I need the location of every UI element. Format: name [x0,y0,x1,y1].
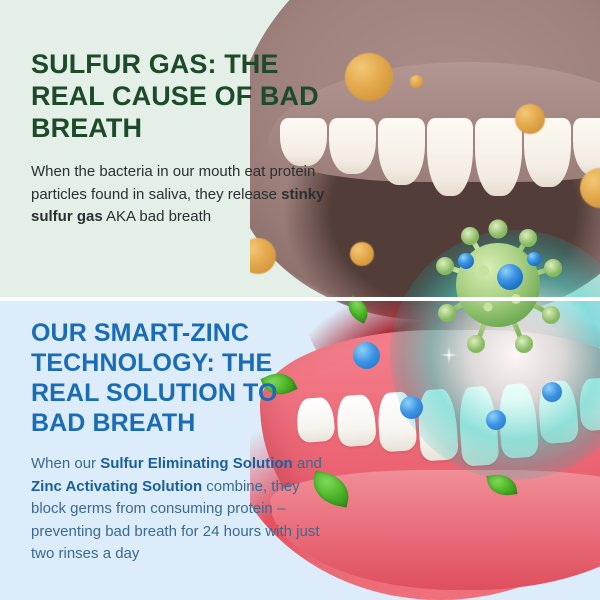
bottom-body-text: When our Sulfur Eliminating Solution and… [31,453,331,566]
bottom-section-text: OUR SMART-ZINC TECHNOLOGY: THE REAL SOLU… [31,318,331,566]
bottom-body-part-2: and [293,455,322,472]
bottom-body-bold-2: Zinc Activating Solution [31,478,202,495]
infographic-root: SULFUR GAS: THE REAL CAUSE OF BAD BREATH… [0,0,600,600]
section-divider [0,297,600,301]
bottom-body-bold-1: Sulfur Eliminating Solution [100,455,293,472]
germ-icon [428,215,568,355]
zinc-particle [400,396,423,419]
sulfur-particle [410,75,423,88]
sulfur-particle [515,104,545,134]
top-body-text: When the bacteria in our mouth eat prote… [31,161,331,229]
bottom-body-part-1: When our [31,455,100,472]
sulfur-particle [345,53,393,101]
zinc-particle [353,342,380,369]
sulfur-particle [350,242,374,266]
top-headline: SULFUR GAS: THE REAL CAUSE OF BAD BREATH [31,48,331,144]
bottom-headline: OUR SMART-ZINC TECHNOLOGY: THE REAL SOLU… [31,318,331,438]
top-section-text: SULFUR GAS: THE REAL CAUSE OF BAD BREATH… [31,48,331,229]
zinc-particle [486,410,506,430]
top-body-part-2: AKA bad breath [103,208,211,225]
zinc-particle [542,382,562,402]
top-body-part-1: When the bacteria in our mouth eat prote… [31,163,315,203]
